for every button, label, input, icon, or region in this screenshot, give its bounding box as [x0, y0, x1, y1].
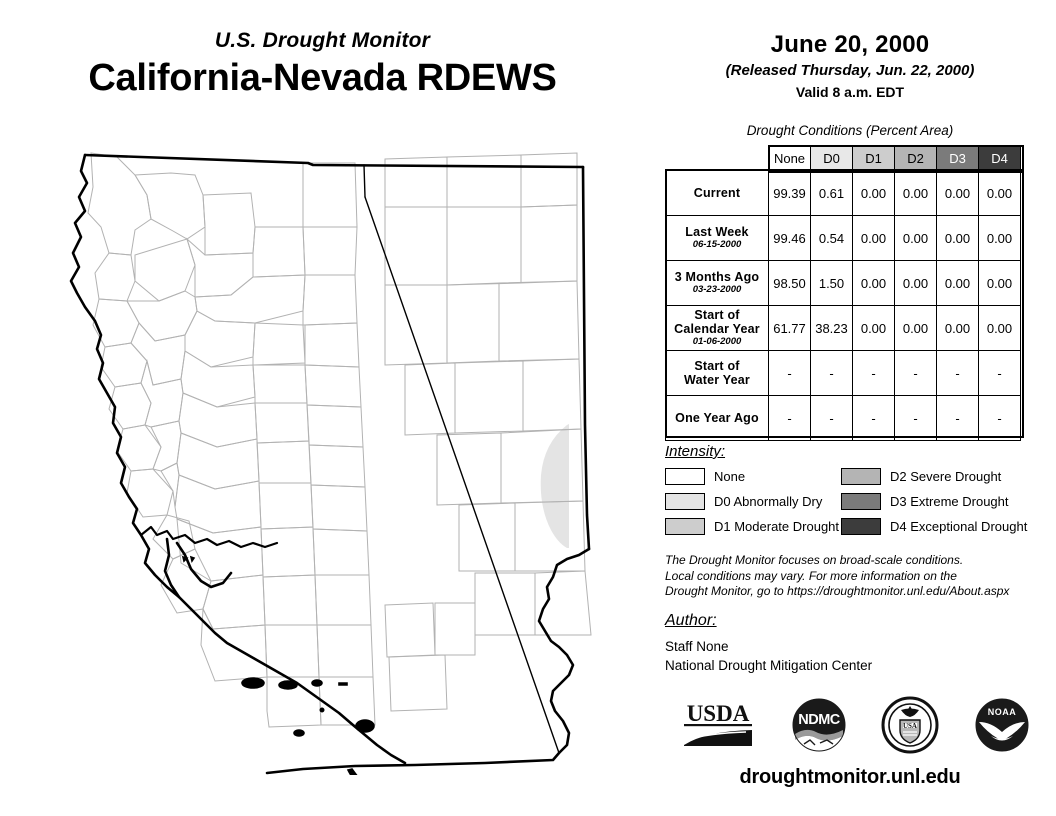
author-heading: Author:	[665, 612, 1045, 630]
disclaimer-text: The Drought Monitor focuses on broad-sca…	[665, 553, 1045, 600]
valid-time: Valid 8 a.m. EDT	[655, 82, 1045, 102]
cell-lastweek-d0: 0.54	[811, 216, 853, 261]
row-label-line1: Start of	[694, 359, 739, 373]
cell-oneyear-d0: -	[811, 396, 853, 441]
row-label-one-year-ago: One Year Ago	[666, 396, 769, 441]
cell-current-d3: 0.00	[937, 171, 979, 216]
legend-item-d0[interactable]: D0 Abnormally Dry	[665, 492, 841, 511]
table-header-row: None D0 D1 D2 D3 D4	[666, 146, 1021, 171]
disclaimer-line-2: Local conditions may vary. For more info…	[665, 569, 1045, 585]
disclaimer-line-1: The Drought Monitor focuses on broad-sca…	[665, 553, 1045, 569]
table-row: Start of Calendar Year 01-06-2000 61.77 …	[666, 306, 1021, 351]
cell-calyear-none: 61.77	[769, 306, 811, 351]
legend-item-d4[interactable]: D4 Exceptional Drought	[841, 517, 1050, 536]
cell-current-none: 99.39	[769, 171, 811, 216]
legend-swatch-d4	[841, 518, 881, 535]
drought-conditions-table: None D0 D1 D2 D3 D4 Current 99.39 0.61 0…	[665, 145, 1021, 441]
logo-row: USDA NDMC USA N	[663, 694, 1048, 756]
program-title: U.S. Drought Monitor	[0, 28, 645, 54]
legend-label-d4: D4 Exceptional Drought	[890, 519, 1027, 534]
column-header-d1: D1	[853, 146, 895, 171]
cell-wateryear-d1: -	[853, 351, 895, 396]
released-date: (Released Thursday, Jun. 22, 2000)	[655, 60, 1045, 81]
row-label-start-calendar-year: Start of Calendar Year 01-06-2000	[666, 306, 769, 351]
legend-swatch-d3	[841, 493, 881, 510]
cell-calyear-d1: 0.00	[853, 306, 895, 351]
row-label-text: Current	[694, 186, 741, 200]
cell-lastweek-d3: 0.00	[937, 216, 979, 261]
ndmc-logo[interactable]: NDMC	[790, 696, 848, 754]
drought-overlay-d0	[541, 424, 569, 548]
table-row: 3 Months Ago 03-23-2000 98.50 1.50 0.00 …	[666, 261, 1021, 306]
legend-label-d3: D3 Extreme Drought	[890, 494, 1009, 509]
map-svg	[55, 135, 635, 775]
legend-swatch-d1	[665, 518, 705, 535]
cell-3months-d4: 0.00	[979, 261, 1021, 306]
cell-3months-d1: 0.00	[853, 261, 895, 306]
column-header-d2: D2	[895, 146, 937, 171]
cell-current-d1: 0.00	[853, 171, 895, 216]
table-row: Current 99.39 0.61 0.00 0.00 0.00 0.00	[666, 171, 1021, 216]
svg-text:NOAA: NOAA	[988, 707, 1017, 717]
cell-wateryear-d4: -	[979, 351, 1021, 396]
author-organization: National Drought Mitigation Center	[665, 656, 1045, 675]
legend-item-d2[interactable]: D2 Severe Drought	[841, 467, 1050, 486]
usda-seal-logo[interactable]: USA	[881, 696, 939, 754]
column-header-d0: D0	[811, 146, 853, 171]
cell-oneyear-d3: -	[937, 396, 979, 441]
legend-label-d0: D0 Abnormally Dry	[714, 494, 822, 509]
author-name: Staff None	[665, 637, 1045, 656]
legend-label-d2: D2 Severe Drought	[890, 469, 1001, 484]
title-block: U.S. Drought Monitor California-Nevada R…	[0, 28, 645, 100]
svg-text:USDA: USDA	[687, 701, 750, 726]
cell-oneyear-d4: -	[979, 396, 1021, 441]
table-row: Start of Water Year - - - - - -	[666, 351, 1021, 396]
channel-islands	[183, 557, 374, 775]
noaa-logo[interactable]: NOAA	[973, 696, 1031, 754]
column-header-d4: D4	[979, 146, 1021, 171]
cell-lastweek-d1: 0.00	[853, 216, 895, 261]
row-sub-date: 03-23-2000	[666, 284, 768, 296]
row-sub-date: 01-06-2000	[666, 336, 768, 348]
cell-lastweek-none: 99.46	[769, 216, 811, 261]
table-caption: Drought Conditions (Percent Area)	[655, 123, 1045, 138]
cell-lastweek-d2: 0.00	[895, 216, 937, 261]
row-sub-date: 06-15-2000	[666, 239, 768, 251]
table-row: One Year Ago - - - - - -	[666, 396, 1021, 441]
date-block: June 20, 2000 (Released Thursday, Jun. 2…	[655, 30, 1045, 102]
cell-wateryear-none: -	[769, 351, 811, 396]
legend-label-d1: D1 Moderate Drought	[714, 519, 839, 534]
svg-text:USA: USA	[903, 722, 917, 730]
cell-3months-none: 98.50	[769, 261, 811, 306]
legend-item-d3[interactable]: D3 Extreme Drought	[841, 492, 1050, 511]
row-label-3-months-ago: 3 Months Ago 03-23-2000	[666, 261, 769, 306]
row-label-start-water-year: Start of Water Year	[666, 351, 769, 396]
legend-swatch-d2	[841, 468, 881, 485]
cell-current-d0: 0.61	[811, 171, 853, 216]
info-panel: June 20, 2000 (Released Thursday, Jun. 2…	[655, 0, 1056, 816]
cell-oneyear-d2: -	[895, 396, 937, 441]
row-label-last-week: Last Week 06-15-2000	[666, 216, 769, 261]
table-corner-cell	[666, 146, 769, 171]
cell-3months-d2: 0.00	[895, 261, 937, 306]
row-label-line1: Start of	[694, 308, 739, 322]
row-label-text: 3 Months Ago	[675, 270, 760, 284]
row-label-current: Current	[666, 171, 769, 216]
page-title: California-Nevada RDEWS	[0, 56, 645, 100]
cell-3months-d3: 0.00	[937, 261, 979, 306]
legend-item-d1[interactable]: D1 Moderate Drought	[665, 517, 841, 536]
cell-wateryear-d3: -	[937, 351, 979, 396]
cell-wateryear-d0: -	[811, 351, 853, 396]
table-row: Last Week 06-15-2000 99.46 0.54 0.00 0.0…	[666, 216, 1021, 261]
cell-wateryear-d2: -	[895, 351, 937, 396]
legend-item-none[interactable]: None	[665, 467, 841, 486]
valid-date: June 20, 2000	[655, 30, 1045, 60]
site-url[interactable]: droughtmonitor.unl.edu	[655, 766, 1045, 789]
cell-calyear-d2: 0.00	[895, 306, 937, 351]
cell-oneyear-none: -	[769, 396, 811, 441]
row-label-text: One Year Ago	[675, 411, 759, 425]
cell-3months-d0: 1.50	[811, 261, 853, 306]
state-outlines	[71, 155, 589, 773]
usda-logo[interactable]: USDA	[680, 699, 756, 751]
column-header-d3: D3	[937, 146, 979, 171]
drought-map[interactable]	[55, 135, 635, 775]
row-label-line2: Water Year	[684, 373, 750, 387]
legend-swatch-d0	[665, 493, 705, 510]
cell-oneyear-d1: -	[853, 396, 895, 441]
legend-swatch-none	[665, 468, 705, 485]
row-label-line2: Calendar Year	[674, 322, 760, 336]
disclaimer-line-3[interactable]: Drought Monitor, go to https://droughtmo…	[665, 584, 1045, 600]
map-panel: U.S. Drought Monitor California-Nevada R…	[0, 0, 655, 816]
row-label-text: Last Week	[685, 225, 748, 239]
intensity-legend: Intensity: None D2 Severe Drought D0 Abn…	[665, 443, 1050, 536]
cell-current-d4: 0.00	[979, 171, 1021, 216]
cell-current-d2: 0.00	[895, 171, 937, 216]
intensity-heading: Intensity:	[665, 443, 1050, 460]
column-header-none: None	[769, 146, 811, 171]
author-section: Author: Staff None National Drought Miti…	[665, 612, 1045, 675]
cell-calyear-d0: 38.23	[811, 306, 853, 351]
cell-calyear-d3: 0.00	[937, 306, 979, 351]
svg-text:NDMC: NDMC	[798, 712, 841, 728]
county-boundaries	[88, 153, 591, 727]
cell-calyear-d4: 0.00	[979, 306, 1021, 351]
legend-label-none: None	[714, 469, 745, 484]
cell-lastweek-d4: 0.00	[979, 216, 1021, 261]
